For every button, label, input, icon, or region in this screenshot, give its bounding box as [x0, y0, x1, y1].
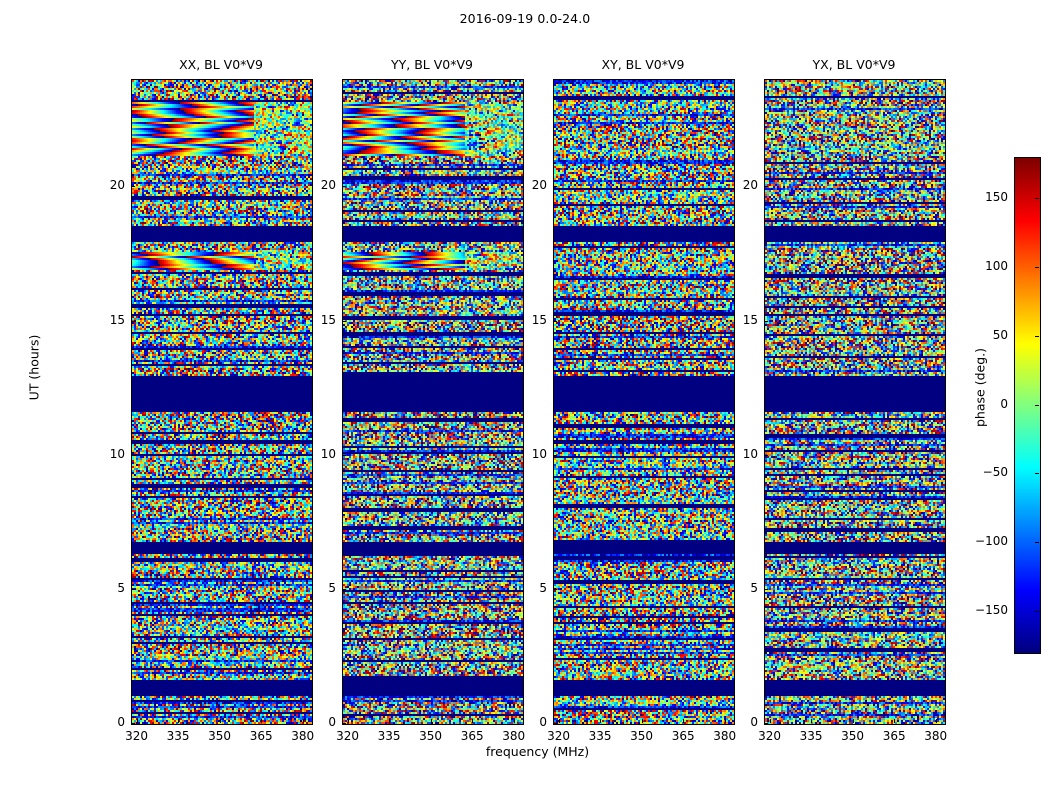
y-tick-label-xx: 15: [91, 313, 125, 327]
waterfall-panel-xy[interactable]: [553, 79, 735, 725]
x-tick-label-yx: 365: [874, 729, 914, 743]
x-tick-label-yy: 320: [328, 729, 368, 743]
x-tick-mark: [600, 719, 601, 723]
y-tick-label-xx: 5: [91, 581, 125, 595]
colorbar-tick-label: −50: [968, 465, 1008, 479]
x-tick-label-yx: 335: [791, 729, 831, 743]
x-tick-mark: [137, 719, 138, 723]
x-tick-label-xx: 365: [241, 729, 281, 743]
y-tick-mark: [553, 455, 557, 456]
y-tick-mark: [553, 589, 557, 590]
y-tick-label-xy: 10: [513, 447, 547, 461]
x-tick-label-xy: 335: [580, 729, 620, 743]
y-tick-mark: [342, 321, 346, 322]
y-tick-label-yx: 5: [724, 581, 758, 595]
x-tick-mark: [683, 719, 684, 723]
y-tick-label-xx: 0: [91, 715, 125, 729]
y-tick-label-yy: 15: [302, 313, 336, 327]
x-tick-label-xx: 380: [283, 729, 323, 743]
colorbar-label: phase (deg.): [973, 328, 988, 448]
x-tick-mark: [178, 719, 179, 723]
colorbar-tick-mark: [1035, 542, 1039, 543]
x-tick-label-xx: 320: [117, 729, 157, 743]
x-tick-mark: [348, 719, 349, 723]
y-tick-label-xy: 15: [513, 313, 547, 327]
x-tick-label-xy: 365: [663, 729, 703, 743]
x-tick-mark: [431, 719, 432, 723]
colorbar-tick-mark: [1035, 336, 1039, 337]
x-tick-label-yy: 380: [494, 729, 534, 743]
panel-title-yx: YX, BL V0*V9: [764, 57, 944, 72]
x-tick-label-xx: 350: [200, 729, 240, 743]
x-tick-label-yy: 350: [411, 729, 451, 743]
colorbar-tick-label: −100: [968, 534, 1008, 548]
y-tick-mark: [131, 455, 135, 456]
y-tick-label-yy: 0: [302, 715, 336, 729]
x-tick-label-yx: 380: [916, 729, 956, 743]
y-tick-mark: [342, 589, 346, 590]
y-tick-mark: [342, 455, 346, 456]
waterfall-panel-yy[interactable]: [342, 79, 524, 725]
x-tick-mark: [853, 719, 854, 723]
colorbar-tick-label: 100: [968, 259, 1008, 273]
panel-title-xx: XX, BL V0*V9: [131, 57, 311, 72]
figure-canvas: 2016-09-19 0.0-24.0 XX, BL V0*V9 YY, BL …: [0, 0, 1050, 800]
y-tick-label-xx: 20: [91, 178, 125, 192]
y-tick-label-yy: 10: [302, 447, 336, 461]
y-tick-mark: [553, 723, 557, 724]
y-tick-mark: [131, 186, 135, 187]
y-tick-mark: [553, 186, 557, 187]
colorbar-tick-mark: [1035, 198, 1039, 199]
x-tick-label-yy: 365: [452, 729, 492, 743]
y-tick-label-xy: 20: [513, 178, 547, 192]
colorbar-tick-mark: [1035, 267, 1039, 268]
x-tick-label-yy: 335: [369, 729, 409, 743]
x-tick-label-xy: 350: [622, 729, 662, 743]
y-tick-mark: [764, 723, 768, 724]
x-tick-mark: [472, 719, 473, 723]
y-tick-label-yy: 5: [302, 581, 336, 595]
x-axis-label: frequency (MHz): [131, 744, 944, 759]
x-tick-mark: [220, 719, 221, 723]
colorbar-tick-mark: [1035, 473, 1039, 474]
y-tick-mark: [131, 589, 135, 590]
colorbar-tick-mark: [1035, 405, 1039, 406]
y-tick-mark: [553, 321, 557, 322]
x-tick-mark: [642, 719, 643, 723]
y-tick-mark: [342, 186, 346, 187]
y-tick-mark: [764, 455, 768, 456]
x-tick-label-xy: 320: [539, 729, 579, 743]
x-tick-mark: [389, 719, 390, 723]
y-tick-mark: [764, 321, 768, 322]
figure-suptitle: 2016-09-19 0.0-24.0: [0, 11, 1050, 26]
y-tick-mark: [764, 589, 768, 590]
y-tick-label-yx: 20: [724, 178, 758, 192]
colorbar-tick-mark: [1035, 611, 1039, 612]
y-tick-label-yx: 0: [724, 715, 758, 729]
waterfall-panel-yx[interactable]: [764, 79, 946, 725]
panel-title-xy: XY, BL V0*V9: [553, 57, 733, 72]
y-tick-label-xy: 5: [513, 581, 547, 595]
y-tick-label-xy: 0: [513, 715, 547, 729]
x-tick-mark: [811, 719, 812, 723]
y-tick-label-xx: 10: [91, 447, 125, 461]
y-tick-label-yx: 15: [724, 313, 758, 327]
colorbar[interactable]: [1014, 157, 1041, 654]
x-tick-mark: [261, 719, 262, 723]
x-tick-mark: [936, 719, 937, 723]
y-tick-mark: [131, 321, 135, 322]
x-tick-mark: [559, 719, 560, 723]
y-tick-label-yy: 20: [302, 178, 336, 192]
y-tick-label-yx: 10: [724, 447, 758, 461]
x-tick-label-xy: 380: [705, 729, 745, 743]
y-tick-mark: [342, 723, 346, 724]
y-axis-label: UT (hours): [27, 308, 42, 428]
x-tick-mark: [894, 719, 895, 723]
panel-title-yy: YY, BL V0*V9: [342, 57, 522, 72]
x-tick-label-xx: 335: [158, 729, 198, 743]
x-tick-label-yx: 320: [750, 729, 790, 743]
x-tick-mark: [770, 719, 771, 723]
y-tick-mark: [764, 186, 768, 187]
waterfall-panel-xx[interactable]: [131, 79, 313, 725]
y-tick-mark: [131, 723, 135, 724]
colorbar-tick-label: −150: [968, 603, 1008, 617]
colorbar-tick-label: 150: [968, 190, 1008, 204]
x-tick-label-yx: 350: [833, 729, 873, 743]
